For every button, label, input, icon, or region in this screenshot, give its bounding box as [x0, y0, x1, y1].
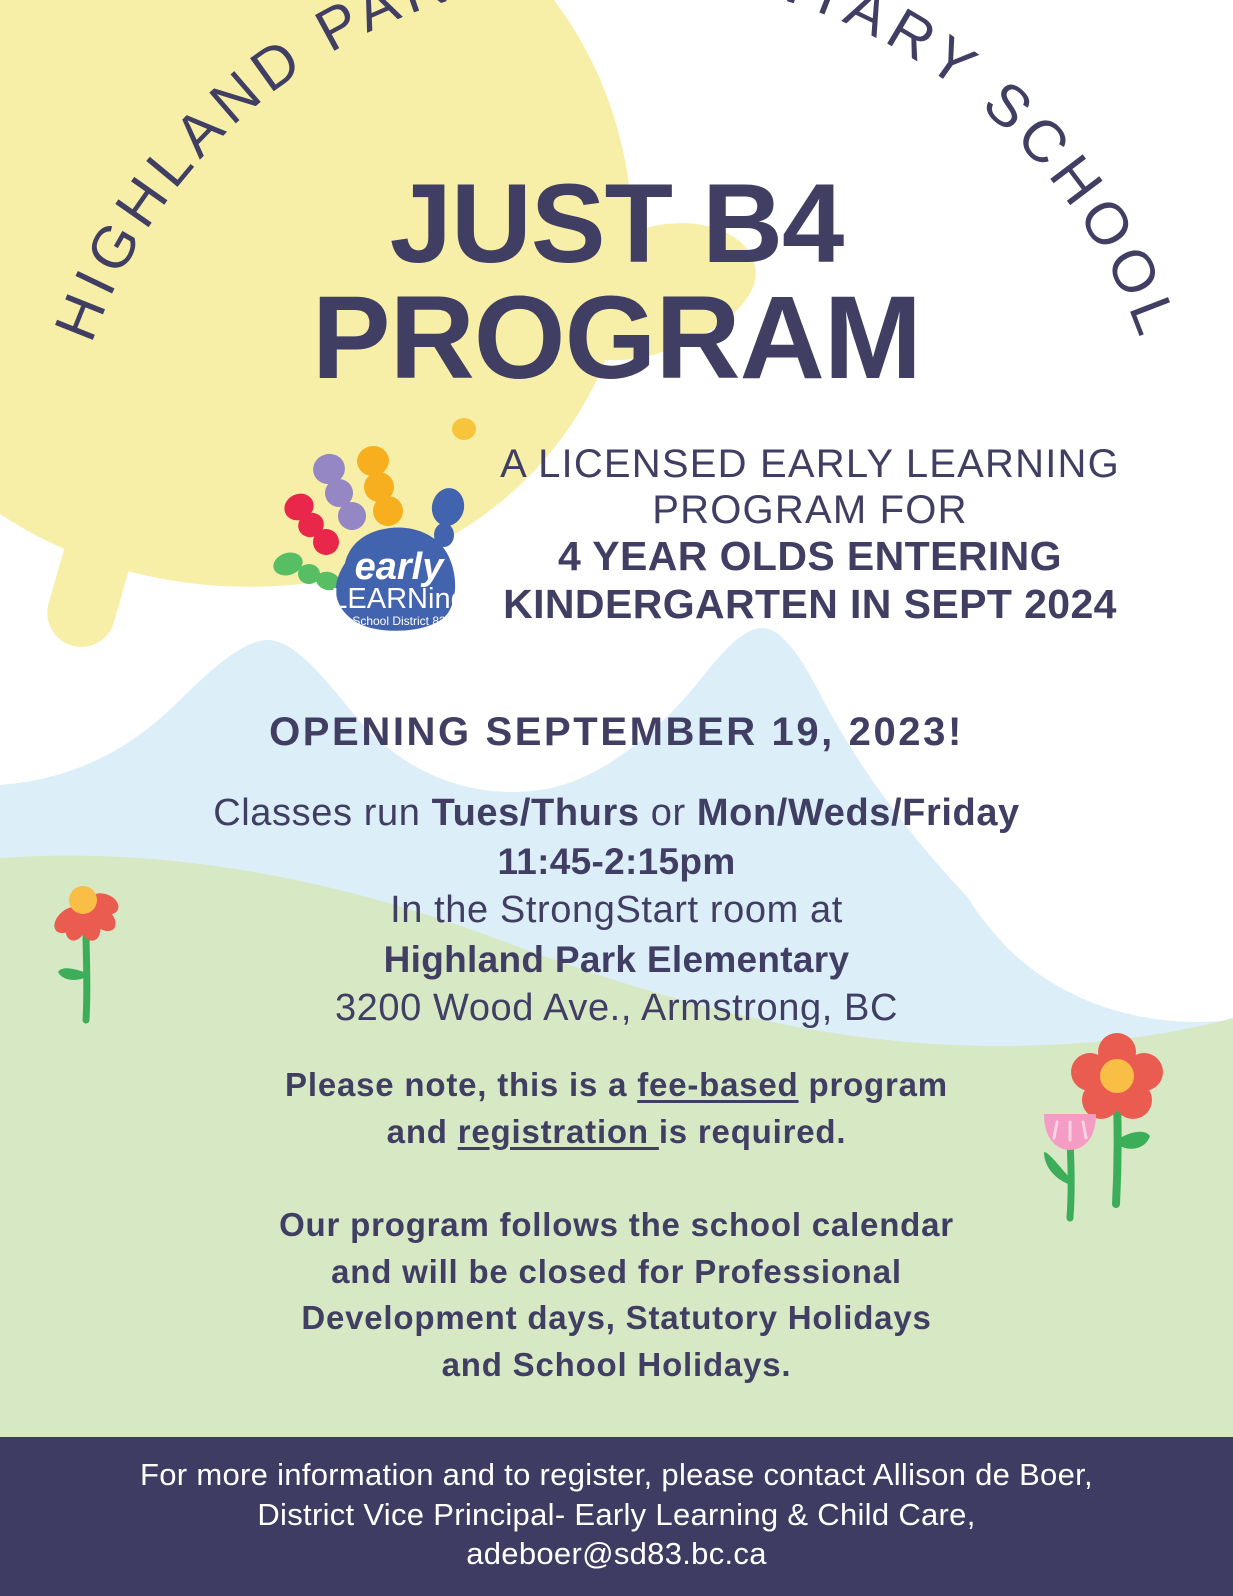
classes-days-1: Tues/Thurs: [432, 792, 640, 834]
fee-note-suffix: program: [799, 1066, 948, 1103]
classes-or: or: [640, 792, 697, 834]
calendar-note-line-3: Development days, Statutory Holidays: [0, 1295, 1233, 1342]
subtitle-line-1: A LICENSED EARLY LEARNING: [480, 441, 1140, 487]
opening-date: OPENING SEPTEMBER 19, 2023!: [0, 710, 1233, 755]
subtitle-line-2: PROGRAM FOR: [480, 487, 1140, 533]
title-line-1: JUST B4: [0, 172, 1233, 276]
logo-and-subtitle-row: early LEARNing School District 83 A LICE…: [0, 427, 1233, 642]
class-time: 11:45-2:15pm: [0, 838, 1233, 886]
calendar-note-line-1: Our program follows the school calendar: [0, 1202, 1233, 1249]
registration-underlined: registration: [458, 1113, 659, 1150]
classes-days-line: Classes run Tues/Thurs or Mon/Weds/Frida…: [0, 789, 1233, 838]
fee-note-prefix: Please note, this is a: [285, 1066, 637, 1103]
footer-email[interactable]: adeboer@sd83.bc.ca: [0, 1534, 1233, 1574]
registration-prefix: and: [387, 1113, 458, 1150]
main-title: JUST B4 PROGRAM: [0, 172, 1233, 394]
subtitle-block: A LICENSED EARLY LEARNING PROGRAM FOR 4 …: [480, 441, 1140, 629]
fee-note-line-2: and registration is required.: [0, 1109, 1233, 1156]
subtitle-line-3: 4 YEAR OLDS ENTERING: [480, 533, 1140, 581]
classes-days-2: Mon/Weds/Friday: [697, 792, 1020, 834]
logo-word-learning: LEARNing: [331, 583, 466, 615]
calendar-note-line-2: and will be closed for Professional: [0, 1249, 1233, 1296]
title-line-2: PROGRAM: [0, 284, 1233, 394]
handprint-finger-blue: [428, 485, 467, 547]
location-address: 3200 Wood Ave., Armstrong, BC: [0, 984, 1233, 1033]
notes-spacer: [0, 1156, 1233, 1202]
program-details-block: OPENING SEPTEMBER 19, 2023! Classes run …: [0, 710, 1233, 1033]
program-notes-block: Please note, this is a fee-based program…: [0, 1062, 1233, 1389]
poster-canvas: HIGHLAND PARK ELEMENTARY SCHOOL JUST B4 …: [0, 0, 1233, 1596]
logo-word-early: early: [355, 546, 446, 588]
footer-contact-block: For more information and to register, pl…: [0, 1455, 1233, 1574]
calendar-note-line-4: and School Holidays.: [0, 1342, 1233, 1389]
footer-line-1: For more information and to register, pl…: [0, 1455, 1233, 1495]
location-intro: In the StrongStart room at: [0, 886, 1233, 935]
registration-suffix: is required.: [659, 1113, 847, 1150]
early-learning-handprint-logo: early LEARNing School District 83: [262, 431, 472, 639]
subtitle-line-4: KINDERGARTEN IN SEPT 2024: [480, 581, 1140, 629]
location-name: Highland Park Elementary: [0, 936, 1233, 984]
classes-prefix: Classes run: [213, 792, 431, 834]
footer-line-2: District Vice Principal- Early Learning …: [0, 1495, 1233, 1535]
fee-based-underlined: fee-based: [637, 1066, 798, 1103]
fee-note-line-1: Please note, this is a fee-based program: [0, 1062, 1233, 1109]
logo-word-district: School District 83: [352, 614, 446, 628]
